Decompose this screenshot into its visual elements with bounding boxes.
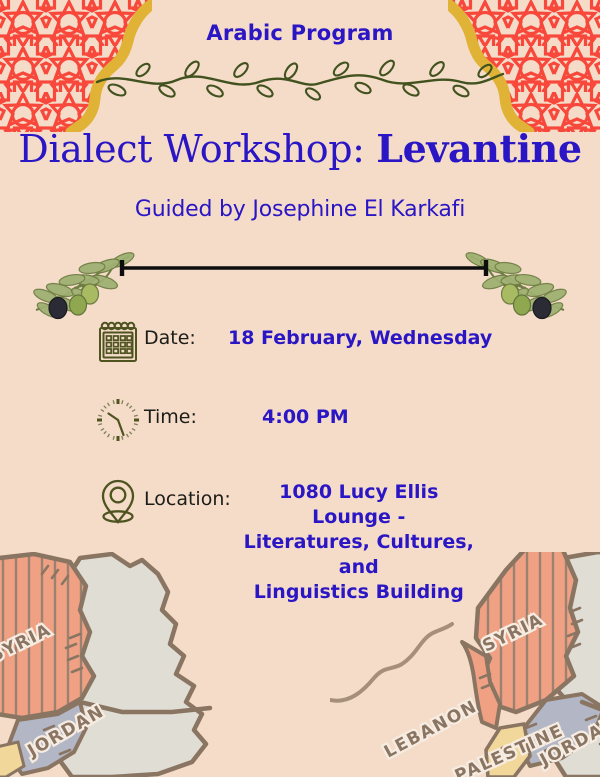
dimension-rule-icon [118, 258, 490, 278]
poster-canvas: Arabic Program [0, 0, 600, 777]
location-pin-icon [92, 470, 144, 526]
detail-row-date: Date: 18 February, Wednesday [92, 318, 512, 364]
time-value: 4:00 PM [262, 392, 349, 430]
date-label: Date: [144, 318, 216, 349]
location-label: Location: [144, 470, 231, 510]
program-label: Arabic Program [0, 21, 600, 45]
clock-icon [92, 392, 144, 444]
page-title: Dialect Workshop: Levantine [0, 126, 600, 171]
time-label: Time: [144, 392, 216, 428]
calendar-icon [92, 318, 144, 364]
map-label-lebanon: LEBANON [381, 697, 481, 763]
levant-map-illustration-right: SYRIA LEBANON PALESTINE JORDAN [330, 552, 600, 777]
title-emphasis: Levantine [376, 126, 581, 171]
levant-map-illustration-left: SYRIA JORDAN [0, 552, 262, 777]
presenter-subtitle: Guided by Josephine El Karkafi [0, 197, 600, 222]
date-value: 18 February, Wednesday [228, 318, 492, 351]
detail-row-time: Time: 4:00 PM [92, 392, 512, 444]
location-line-1: 1080 Lucy Ellis Lounge - [243, 480, 475, 530]
leafy-vine-divider-icon [95, 58, 505, 108]
title-prefix: Dialect Workshop: [18, 127, 376, 171]
